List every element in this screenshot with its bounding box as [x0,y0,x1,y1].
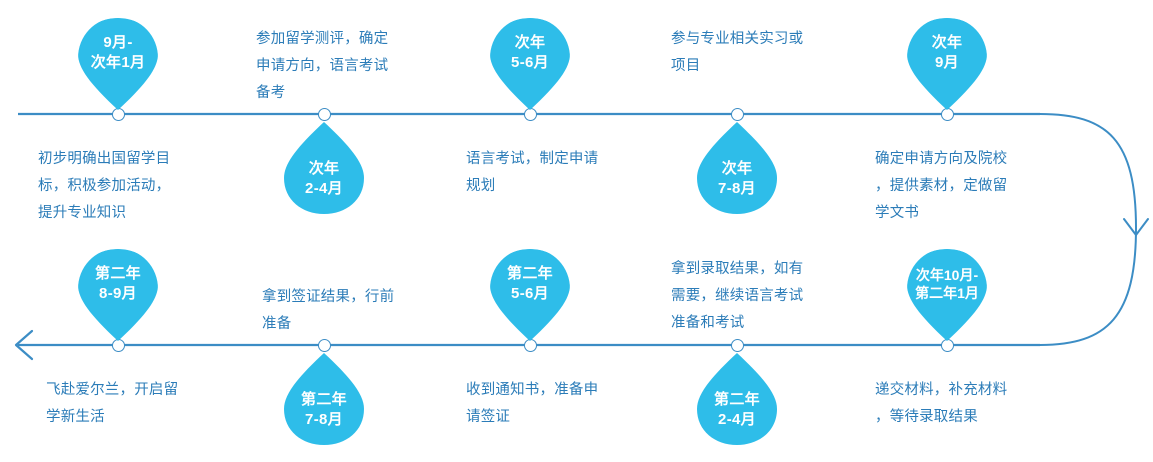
node-marker-n7[interactable] [731,339,744,352]
pin-n5[interactable]: 次年 9月 [907,18,987,110]
pin-n8[interactable]: 第二年 5-6月 [490,249,570,341]
pin-n3[interactable]: 次年 5-6月 [490,18,570,110]
pin-label-n7: 第二年 2-4月 [697,390,777,430]
pin-n4[interactable]: 次年 7-8月 [697,122,777,214]
pin-label-n3: 次年 5-6月 [490,33,570,73]
pin-label-n5: 次年 9月 [907,33,987,73]
pin-n2[interactable]: 次年 2-4月 [284,122,364,214]
desc-n6: 递交材料，补充材料 ，等待录取结果 [875,377,1055,431]
pin-label-n6: 次年10月- 第二年1月 [907,266,987,303]
pin-label-n10: 第二年 8-9月 [78,264,158,304]
pin-label-n2: 次年 2-4月 [284,159,364,199]
desc-n10: 飞赴爱尔兰，开启留 学新生活 [46,377,226,431]
node-marker-n4[interactable] [731,108,744,121]
node-marker-n9[interactable] [318,339,331,352]
timeline-diagram: 9月- 次年1月 次年 2-4月 次年 5-6月 次年 7-8月 次年 9月 次… [0,0,1153,462]
desc-n1: 初步明确出国留学目 标，积极参加活动， 提升专业知识 [38,146,208,227]
node-marker-n2[interactable] [318,108,331,121]
desc-n8: 收到通知书，准备申 请签证 [466,377,646,431]
pin-label-n4: 次年 7-8月 [697,159,777,199]
desc-n5: 确定申请方向及院校 ，提供素材，定做留 学文书 [875,146,1055,227]
pin-label-n1: 9月- 次年1月 [78,33,158,73]
desc-n4: 参与专业相关实习或 项目 [671,26,851,80]
pin-n1[interactable]: 9月- 次年1月 [78,18,158,110]
desc-n7: 拿到录取结果，如有 需要，继续语言考试 准备和考试 [671,256,851,337]
desc-n9: 拿到签证结果，行前 准备 [262,284,442,338]
pin-n10[interactable]: 第二年 8-9月 [78,249,158,341]
desc-n2: 参加留学测评，确定 申请方向，语言考试 备考 [256,26,436,107]
pin-n7[interactable]: 第二年 2-4月 [697,353,777,445]
pin-n9[interactable]: 第二年 7-8月 [284,353,364,445]
pin-n6[interactable]: 次年10月- 第二年1月 [907,249,987,341]
desc-n3: 语言考试，制定申请 规划 [466,146,646,200]
pin-label-n9: 第二年 7-8月 [284,390,364,430]
arrowhead-left-icon [16,331,32,359]
arrowhead-down-icon [1124,219,1148,235]
pin-label-n8: 第二年 5-6月 [490,264,570,304]
